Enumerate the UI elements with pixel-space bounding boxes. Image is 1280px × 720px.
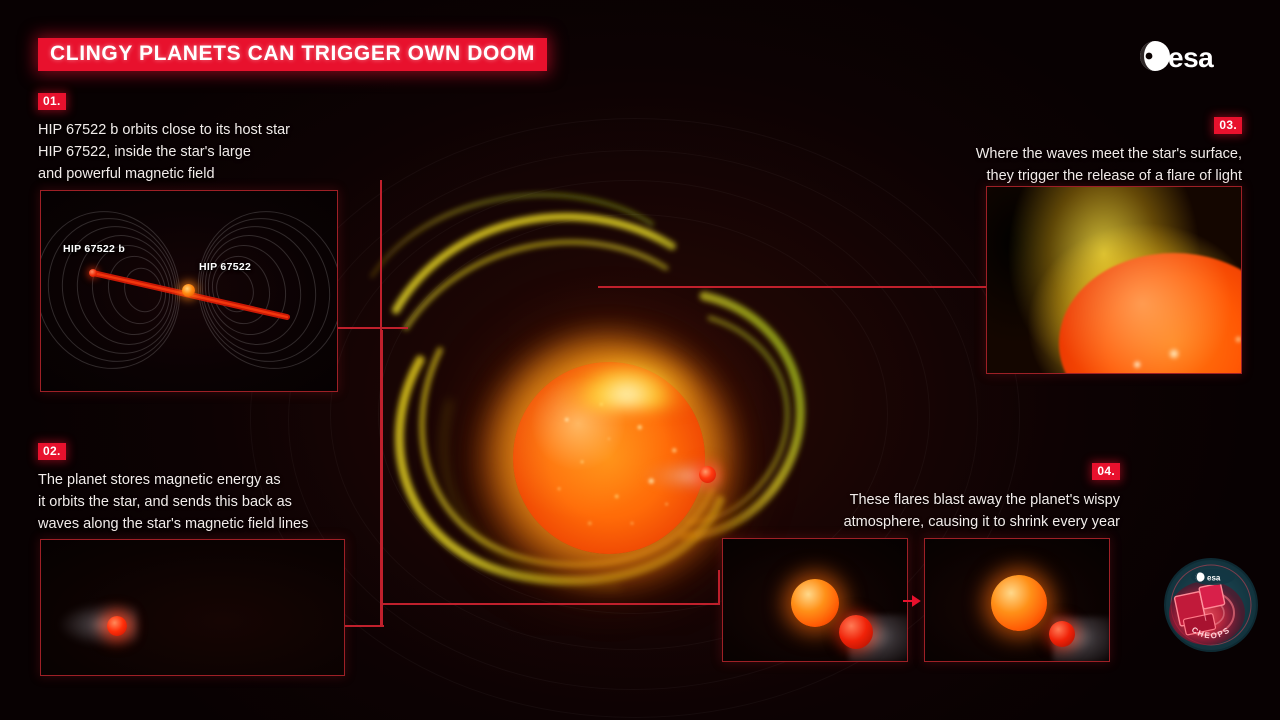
step-03-line-2: they trigger the release of a flare of l…: [976, 165, 1242, 187]
step-01-line-3: and powerful magnetic field: [38, 163, 290, 185]
step-03-number: 03.: [1214, 117, 1242, 134]
panel-before-shrink[interactable]: [722, 538, 908, 662]
step-03-text: Where the waves meet the star's surface,…: [976, 143, 1242, 187]
step-02-block: 02. The planet stores magnetic energy as…: [38, 442, 308, 535]
panel-magnetic-field-diagram[interactable]: HIP 67522 b HIP 67522: [40, 190, 338, 392]
panel-flare-closeup[interactable]: [986, 186, 1242, 374]
step-02-line-3: waves along the star's magnetic field li…: [38, 513, 308, 535]
step-04-line-2: atmosphere, causing it to shrink every y…: [844, 511, 1120, 533]
diagram-star-label: HIP 67522: [199, 261, 251, 273]
cheops-mission-badge[interactable]: esa CHEOPS: [1163, 557, 1259, 653]
orbiting-planet: [699, 466, 716, 483]
step-02-number: 02.: [38, 443, 66, 460]
panel-02-planet: [107, 616, 127, 636]
panel-04a-planet: [839, 615, 873, 649]
infographic-canvas: CLINGY PLANETS CAN TRIGGER OWN DOOM esa …: [0, 0, 1280, 720]
step-01-block: 01. HIP 67522 b orbits close to its host…: [38, 92, 290, 185]
page-title: CLINGY PLANETS CAN TRIGGER OWN DOOM: [38, 38, 547, 71]
panel-01-content: HIP 67522 b HIP 67522: [41, 191, 337, 391]
step-04-number: 04.: [1092, 463, 1120, 480]
page-title-text: CLINGY PLANETS CAN TRIGGER OWN DOOM: [50, 43, 535, 64]
panel-04a-content: [723, 539, 907, 661]
diagram-planet-dot: [89, 269, 97, 277]
diagram-planet-label: HIP 67522 b: [63, 243, 125, 255]
step-02-line-1: The planet stores magnetic energy as: [38, 469, 308, 491]
step-04-line-1: These flares blast away the planet's wis…: [844, 489, 1120, 511]
step-04-text: These flares blast away the planet's wis…: [844, 489, 1120, 533]
panel-03-content: [987, 187, 1241, 373]
stellar-flare: [552, 300, 702, 410]
step-04-block: 04. These flares blast away the planet's…: [844, 462, 1120, 533]
step-02-text: The planet stores magnetic energy as it …: [38, 469, 308, 535]
panel-04b-star: [991, 575, 1047, 631]
step-01-number: 01.: [38, 93, 66, 110]
esa-logo-text: esa: [1168, 42, 1214, 73]
step-01-line-1: HIP 67522 b orbits close to its host sta…: [38, 119, 290, 141]
panel-04b-content: [925, 539, 1109, 661]
panel-planet-waves[interactable]: [40, 539, 345, 676]
step-01-text: HIP 67522 b orbits close to its host sta…: [38, 119, 290, 185]
esa-logo: esa: [1138, 36, 1246, 76]
panel-04a-star: [791, 579, 839, 627]
step-03-block: 03. Where the waves meet the star's surf…: [976, 116, 1242, 187]
step-03-line-1: Where the waves meet the star's surface,: [976, 143, 1242, 165]
diagram-star-dot: [182, 284, 195, 297]
step-02-line-2: it orbits the star, and sends this back …: [38, 491, 308, 513]
panel-02-content: [41, 540, 344, 675]
panel-04b-planet: [1049, 621, 1075, 647]
badge-agency-text: esa: [1207, 574, 1221, 583]
step-01-line-2: HIP 67522, inside the star's large: [38, 141, 290, 163]
panel-after-shrink[interactable]: [924, 538, 1110, 662]
before-after-arrow-icon: [903, 594, 925, 606]
